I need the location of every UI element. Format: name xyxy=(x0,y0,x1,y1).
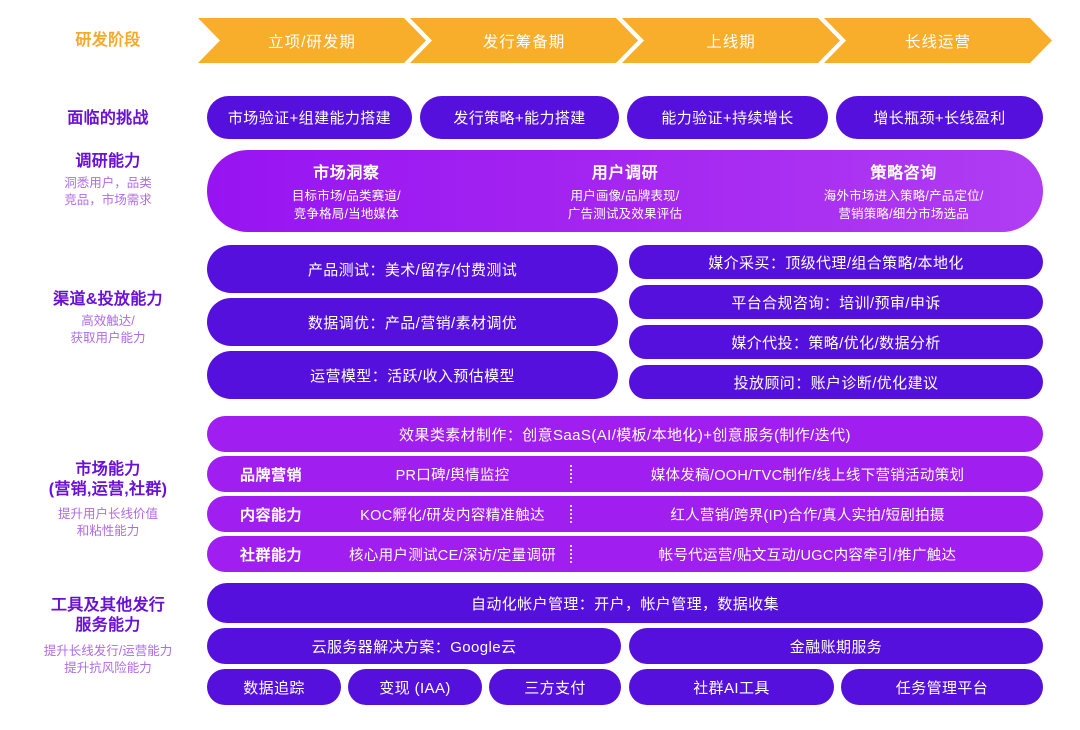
market-row-brand[interactable]: 品牌营销 PR口碑/舆情监控 媒体发稿/OOH/TVC制作/线上线下营销活动策划 xyxy=(207,456,1043,492)
row-label-challenge-title: 面临的挑战 xyxy=(18,109,198,129)
row-label-channel: 渠道&投放能力 高效触达/ 获取用户能力 xyxy=(18,290,198,346)
stage-chevron-2-label: 发行筹备期 xyxy=(483,30,566,52)
research-col-1-line1: 目标市场/品类赛道/ xyxy=(292,188,401,206)
stage-chevron-4[interactable]: 长线运营 xyxy=(824,18,1052,63)
channel-right-pill-3-label: 媒介代投：策略/优化/数据分析 xyxy=(731,332,940,353)
channel-right-pill-3[interactable]: 媒介代投：策略/优化/数据分析 xyxy=(629,325,1043,359)
research-column-market-insight[interactable]: 市场洞察 目标市场/品类赛道/ 竞争格局/当地媒体 xyxy=(207,150,486,232)
row-label-channel-sub-line1: 高效触达/ xyxy=(18,313,198,330)
row-label-stage: 研发阶段 xyxy=(18,31,198,51)
channel-left-pill-3[interactable]: 运营模型：活跃/收入预估模型 xyxy=(207,351,618,399)
challenge-pill-1-label: 市场验证+组建能力搭建 xyxy=(228,107,391,128)
challenge-pill-1[interactable]: 市场验证+组建能力搭建 xyxy=(207,96,412,139)
stage-chevron-1-label: 立项/研发期 xyxy=(268,30,356,52)
row-label-market-title-line1: 市场能力 xyxy=(18,460,198,480)
channel-left-pill-1[interactable]: 产品测试：美术/留存/付费测试 xyxy=(207,245,618,293)
market-banner-label: 效果类素材制作：创意SaaS(AI/模板/本地化)+创意服务(制作/迭代) xyxy=(399,424,851,445)
market-row-brand-right: 媒体发稿/OOH/TVC制作/线上线下营销活动策划 xyxy=(572,464,1043,485)
channel-left-pill-1-label: 产品测试：美术/留存/付费测试 xyxy=(308,259,517,280)
research-column-user-research[interactable]: 用户调研 用户画像/品牌表现/ 广告测试及效果评估 xyxy=(486,150,765,232)
channel-left-pill-3-label: 运营模型：活跃/收入预估模型 xyxy=(310,365,515,386)
market-row-content-left: KOC孵化/研发内容精准触达 xyxy=(335,504,570,525)
tools-chip-monetization[interactable]: 变现 (IAA) xyxy=(348,669,482,705)
row-label-stage-title: 研发阶段 xyxy=(18,31,198,51)
channel-right-pill-4[interactable]: 投放顾问：账户诊断/优化建议 xyxy=(629,365,1043,399)
stage-chevron-3[interactable]: 上线期 xyxy=(622,18,840,63)
tools-chip-3-label: 三方支付 xyxy=(524,677,586,698)
channel-right-pill-2[interactable]: 平台合规咨询：培训/预审/申诉 xyxy=(629,285,1043,319)
channel-right-pill-2-label: 平台合规咨询：培训/预审/申诉 xyxy=(731,292,940,313)
row-label-research: 调研能力 洞悉用户，品类 竞品，市场需求 xyxy=(18,152,198,208)
market-row-content[interactable]: 内容能力 KOC孵化/研发内容精准触达 红人营销/跨界(IP)合作/真人实拍/短… xyxy=(207,496,1043,532)
row-label-market-sub-line1: 提升用户长线价值 xyxy=(18,506,198,523)
stage-chevron-2[interactable]: 发行筹备期 xyxy=(410,18,638,63)
challenge-pill-3-label: 能力验证+持续增长 xyxy=(661,107,793,128)
channel-right-pill-4-label: 投放顾问：账户诊断/优化建议 xyxy=(734,372,939,393)
stage-chevron-1[interactable]: 立项/研发期 xyxy=(198,18,426,63)
research-col-2-line1: 用户画像/品牌表现/ xyxy=(571,188,680,206)
row-label-tools-title-line2: 服务能力 xyxy=(18,616,198,636)
tools-chip-5-label: 任务管理平台 xyxy=(896,677,988,698)
channel-right-pill-1-label: 媒介采买：顶级代理/组合策略/本地化 xyxy=(708,252,964,273)
row-label-market-title-line2: (营销,运营,社群) xyxy=(18,480,198,500)
tools-chip-data-tracking[interactable]: 数据追踪 xyxy=(207,669,341,705)
market-row-community-right: 帐号代运营/贴文互动/UGC内容牵引/推广触达 xyxy=(572,544,1043,565)
research-col-1-line2: 竞争格局/当地媒体 xyxy=(294,206,399,224)
market-row-brand-tag: 品牌营销 xyxy=(207,464,335,485)
research-panel: 市场洞察 目标市场/品类赛道/ 竞争格局/当地媒体 用户调研 用户画像/品牌表现… xyxy=(207,150,1043,232)
market-banner-pill[interactable]: 效果类素材制作：创意SaaS(AI/模板/本地化)+创意服务(制作/迭代) xyxy=(207,416,1043,452)
research-col-3-line1: 海外市场进入策略/产品定位/ xyxy=(824,188,984,206)
market-row-content-tag: 内容能力 xyxy=(207,504,335,525)
market-row-community-left: 核心用户测试CE/深访/定量调研 xyxy=(335,544,570,565)
tools-banner-pill[interactable]: 自动化帐户管理：开户，帐户管理，数据收集 xyxy=(207,583,1043,623)
row-label-tools: 工具及其他发行 服务能力 提升长线发行/运营能力 提升抗风险能力 xyxy=(18,596,198,676)
channel-left-pill-2-label: 数据调优：产品/营销/素材调优 xyxy=(308,312,517,333)
research-col-2-title: 用户调研 xyxy=(592,159,658,183)
stage-chevron-4-label: 长线运营 xyxy=(905,30,971,52)
tools-chip-task-platform[interactable]: 任务管理平台 xyxy=(841,669,1043,705)
research-col-3-line2: 营销策略/细分市场选品 xyxy=(838,206,969,224)
tools-mid-pill-2-label: 金融账期服务 xyxy=(790,636,882,657)
row-label-tools-sub-line2: 提升抗风险能力 xyxy=(18,660,198,677)
tools-chip-community-ai[interactable]: 社群AI工具 xyxy=(629,669,834,705)
tools-chip-4-label: 社群AI工具 xyxy=(693,677,770,698)
row-label-market: 市场能力 (营销,运营,社群) 提升用户长线价值 和粘性能力 xyxy=(18,460,198,539)
market-row-community-tag: 社群能力 xyxy=(207,544,335,565)
challenge-pill-3[interactable]: 能力验证+持续增长 xyxy=(627,96,828,139)
row-label-channel-sub-line2: 获取用户能力 xyxy=(18,330,198,347)
research-column-strategy-consulting[interactable]: 策略咨询 海外市场进入策略/产品定位/ 营销策略/细分市场选品 xyxy=(764,150,1043,232)
challenge-pill-4-label: 增长瓶颈+长线盈利 xyxy=(873,107,1005,128)
row-label-channel-title: 渠道&投放能力 xyxy=(18,290,198,310)
challenge-pill-4[interactable]: 增长瓶颈+长线盈利 xyxy=(836,96,1043,139)
tools-mid-pill-1[interactable]: 云服务器解决方案：Google云 xyxy=(207,628,621,664)
row-label-tools-title-line1: 工具及其他发行 xyxy=(18,596,198,616)
market-row-brand-left: PR口碑/舆情监控 xyxy=(335,464,570,485)
capability-matrix-canvas: 研发阶段 立项/研发期 发行筹备期 上线期 长线运营 面临的挑战 市场验证+组建… xyxy=(0,0,1080,730)
market-row-community[interactable]: 社群能力 核心用户测试CE/深访/定量调研 帐号代运营/贴文互动/UGC内容牵引… xyxy=(207,536,1043,572)
tools-mid-pill-1-label: 云服务器解决方案：Google云 xyxy=(312,636,517,657)
tools-chip-2-label: 变现 (IAA) xyxy=(379,677,451,698)
tools-banner-label: 自动化帐户管理：开户，帐户管理，数据收集 xyxy=(471,593,779,614)
challenge-pill-2[interactable]: 发行策略+能力搭建 xyxy=(420,96,619,139)
row-label-tools-sub-line1: 提升长线发行/运营能力 xyxy=(18,643,198,660)
research-col-3-title: 策略咨询 xyxy=(870,159,936,183)
challenge-pill-2-label: 发行策略+能力搭建 xyxy=(453,107,585,128)
channel-right-pill-1[interactable]: 媒介采买：顶级代理/组合策略/本地化 xyxy=(629,245,1043,279)
tools-chip-third-party-payment[interactable]: 三方支付 xyxy=(489,669,621,705)
tools-chip-1-label: 数据追踪 xyxy=(243,677,305,698)
tools-mid-pill-2[interactable]: 金融账期服务 xyxy=(629,628,1043,664)
stage-chevron-3-label: 上线期 xyxy=(706,30,756,52)
channel-left-pill-2[interactable]: 数据调优：产品/营销/素材调优 xyxy=(207,298,618,346)
research-col-2-line2: 广告测试及效果评估 xyxy=(568,206,682,224)
row-label-challenge: 面临的挑战 xyxy=(18,109,198,129)
row-label-research-sub-line1: 洞悉用户，品类 xyxy=(18,175,198,192)
row-label-research-sub-line2: 竞品，市场需求 xyxy=(18,192,198,209)
row-label-market-sub-line2: 和粘性能力 xyxy=(18,523,198,540)
research-col-1-title: 市场洞察 xyxy=(313,159,379,183)
market-row-content-right: 红人营销/跨界(IP)合作/真人实拍/短剧拍摄 xyxy=(572,504,1043,525)
row-label-research-title: 调研能力 xyxy=(18,152,198,172)
